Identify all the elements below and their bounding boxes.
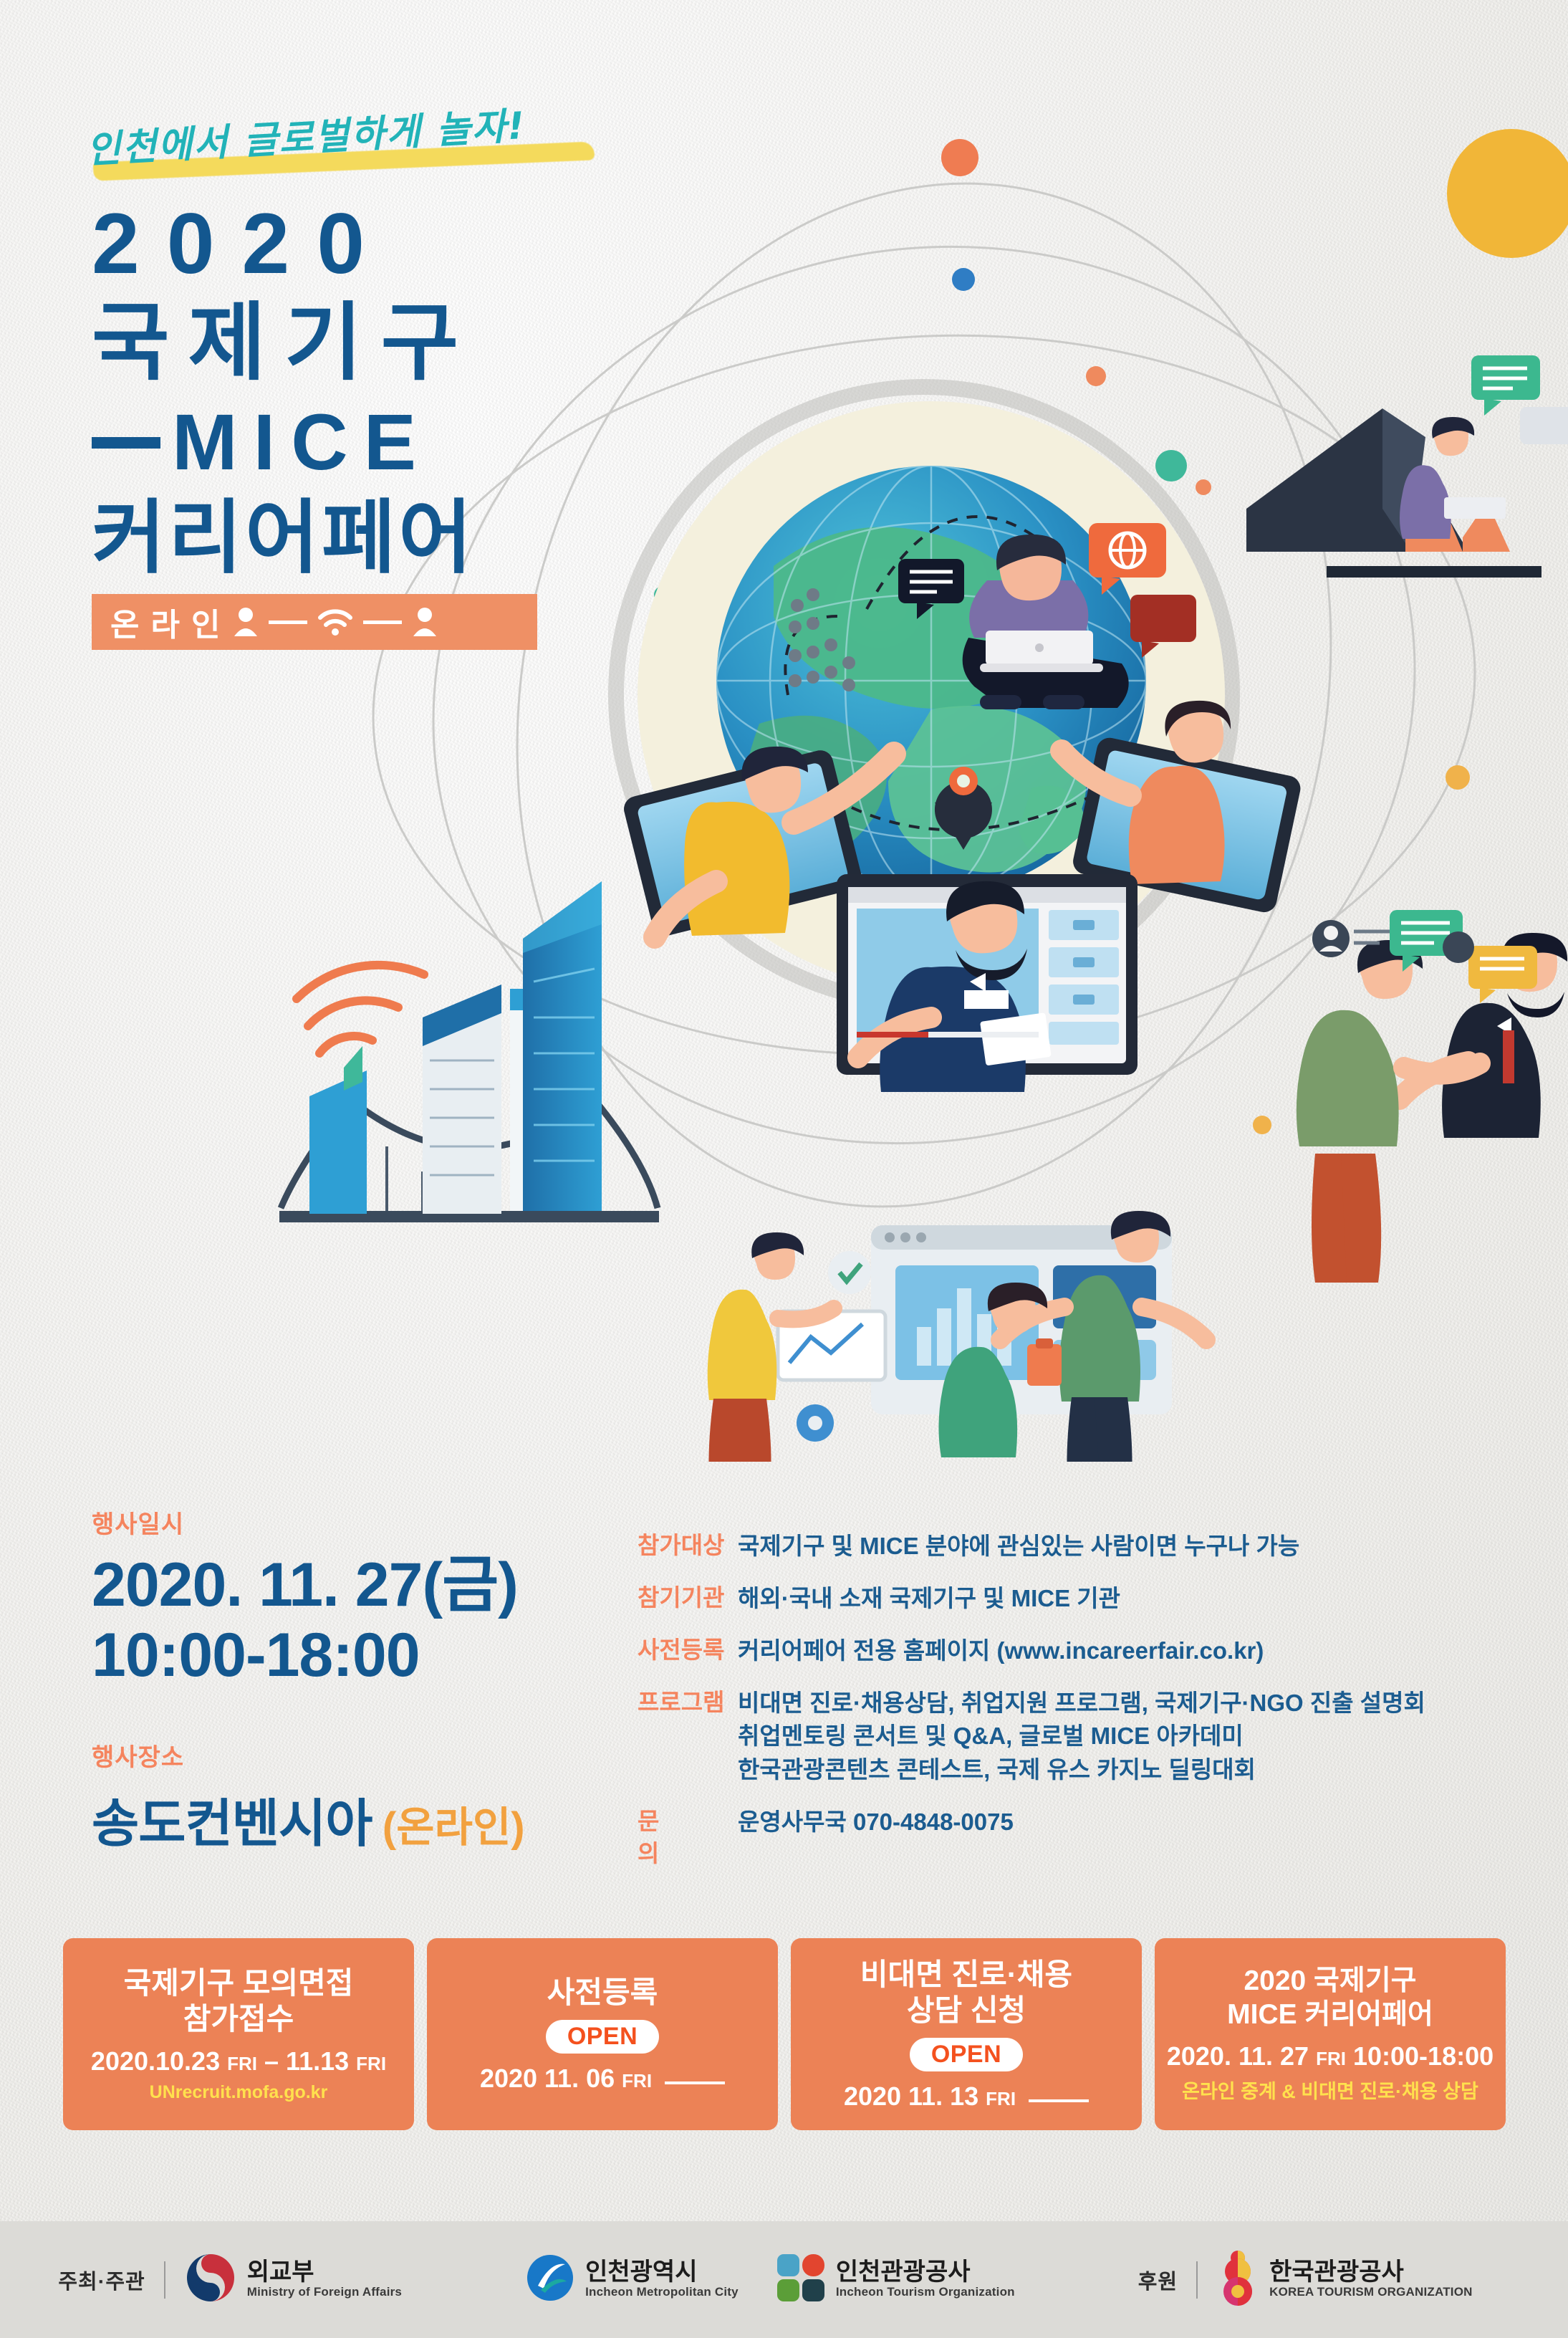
event-time-line2: 10:00-18:00 xyxy=(92,1620,650,1690)
detail-value: 해외·국내 소재 국제기구 및 MICE 기관 xyxy=(738,1582,1120,1616)
event-date-label: 행사일시 xyxy=(92,1505,650,1540)
mofa-name-en: Ministry of Foreign Affairs xyxy=(247,2285,402,2299)
korea-tourism-name-en: KOREA TOURISM ORGANIZATION xyxy=(1269,2285,1473,2299)
event-date-value: 2020. 11. 27(금) 10:00-18:00 xyxy=(92,1550,650,1690)
status-badge-open: OPEN xyxy=(910,2038,1023,2071)
person-icon-right xyxy=(410,606,439,638)
connector-line-right xyxy=(363,621,402,624)
cta-note: 온라인 중계 & 비대면 진로·채용 상담 xyxy=(1182,2076,1478,2104)
logo-korea-tourism: 한국관광공사 KOREA TOURISM ORGANIZATION xyxy=(1216,2250,1473,2309)
dashboard-scene: </> xyxy=(708,1211,1206,1462)
cta-date-day: FRI xyxy=(622,2070,652,2092)
cta-date: 2020. 11. 27 FRI 10:00-18:00 xyxy=(1167,2041,1494,2071)
event-details-list: 참가대상 국제기구 및 MICE 분야에 관심있는 사람이면 누구나 가능 참기… xyxy=(638,1530,1511,1888)
event-venue-value: 송도컨벤시아 (온라인) xyxy=(92,1781,650,1856)
logo-mofa: 외교부 Ministry of Foreign Affairs xyxy=(184,2251,402,2308)
logo-incheon-tourism: 인천관광공사 Incheon Tourism Organization xyxy=(776,2253,1015,2306)
clipboard-icon xyxy=(1027,1338,1062,1386)
program-line-3: 한국관광콘텐츠 콘테스트, 국제 유스 카지노 딜링대회 xyxy=(738,1753,1425,1787)
mofa-name-kr: 외교부 xyxy=(247,2258,314,2286)
cta-title-line1: 사전등록 xyxy=(547,1975,658,2011)
cta-box-row: 국제기구 모의면접 참가접수 2020.10.23 FRI – 11.13 FR… xyxy=(63,1938,1506,2130)
gear-icon xyxy=(797,1404,834,1442)
korea-tourism-name-kr: 한국관광공사 xyxy=(1269,2258,1404,2286)
cta-date-blank-rule xyxy=(665,2081,725,2084)
detail-value[interactable]: 커리어페어 전용 홈페이지 (www.incareerfair.co.kr) xyxy=(738,1634,1264,1668)
event-datetime-venue: 행사일시 2020. 11. 27(금) 10:00-18:00 행사장소 송도… xyxy=(92,1505,650,1856)
cta-date-value: 2020. 11. 27 xyxy=(1167,2041,1309,2071)
cta-date-time: 10:00-18:00 xyxy=(1353,2041,1494,2071)
title-year: 2020 xyxy=(92,201,808,287)
footer-sponsors: 주최·주관 외교부 Ministry of Foreign Affairs xyxy=(0,2221,1568,2338)
wifi-icon xyxy=(316,608,355,636)
host-caption: 주최·주관 xyxy=(58,2265,145,2295)
title-line-careerfair: 커리어페어 xyxy=(92,498,808,578)
cta-date: 2020 11. 06 FRI xyxy=(480,2064,725,2094)
cta-title-line2: MICE 커리어페어 xyxy=(1227,1998,1433,2031)
title-mice: MICE xyxy=(172,397,432,488)
mofa-taegeuk-icon xyxy=(184,2251,237,2308)
detail-value: 국제기구 및 MICE 분야에 관심있는 사람이면 누구나 가능 xyxy=(738,1530,1299,1563)
detail-key: 프로그램 xyxy=(638,1687,738,1719)
cta-date-day: FRI xyxy=(986,2088,1016,2109)
cta-box-mock-interview[interactable]: 국제기구 모의면접 참가접수 2020.10.23 FRI – 11.13 FR… xyxy=(63,1938,414,2130)
cta-date-blank-rule xyxy=(1029,2099,1089,2102)
sponsor-caption: 후원 xyxy=(1138,2265,1178,2295)
title-line-organization: 국제기구 xyxy=(92,301,808,385)
venue-mode: (온라인) xyxy=(383,1804,525,1851)
cta-box-preregistration[interactable]: 사전등록 OPEN 2020 11. 06 FRI xyxy=(427,1938,778,2130)
incheon-tourism-icon xyxy=(776,2253,826,2306)
korea-tourism-icon xyxy=(1216,2250,1259,2309)
detail-row-program: 프로그램 비대면 진로·채용상담, 취업지원 프로그램, 국제기구·NGO 진출… xyxy=(638,1687,1511,1788)
convention-center xyxy=(1246,355,1568,578)
incheon-tourism-label: 인천관광공사 Incheon Tourism Organization xyxy=(836,2260,1015,2300)
korea-tourism-label: 한국관광공사 KOREA TOURISM ORGANIZATION xyxy=(1269,2260,1473,2300)
online-badge-bar: 온라인 xyxy=(92,594,537,650)
detail-row-preregistration: 사전등록 커리어페어 전용 홈페이지 (www.incareerfair.co.… xyxy=(638,1634,1511,1668)
detail-row-organizations: 참기기관 해외·국내 소재 국제기구 및 MICE 기관 xyxy=(638,1582,1511,1616)
sponsor-group: 후원 xyxy=(1138,2261,1216,2299)
footer-divider xyxy=(164,2261,165,2299)
incheon-city-label: 인천광역시 Incheon Metropolitan City xyxy=(585,2260,739,2300)
cta-box-career-consult[interactable]: 비대면 진로·채용 상담 신청 OPEN 2020 11. 13 FRI xyxy=(791,1938,1142,2130)
program-line-2: 취업멘토링 콘서트 및 Q&A, 글로벌 MICE 아카데미 xyxy=(738,1720,1425,1753)
page-title: 2020 국제기구 MICE 커리어페어 온라인 xyxy=(92,201,808,650)
venue-name: 송도컨벤시아 xyxy=(92,1796,372,1853)
logo-incheon-city: 인천광역시 Incheon Metropolitan City xyxy=(525,2253,739,2306)
cta-date-end-day: FRI xyxy=(356,2053,386,2074)
incheon-city-name-en: Incheon Metropolitan City xyxy=(585,2285,739,2299)
event-venue-group: 행사장소 송도컨벤시아 (온라인) xyxy=(92,1738,650,1856)
cta-title-line1: 국제기구 모의면접 xyxy=(124,1965,354,2001)
cta-title-line2: 상담 신청 xyxy=(907,1993,1026,2028)
person-icon-left xyxy=(231,606,260,638)
check-badge-icon xyxy=(828,1251,871,1294)
detail-key: 참가대상 xyxy=(638,1530,738,1562)
online-badge-label: 온라인 xyxy=(110,599,231,645)
incheon-city-icon xyxy=(525,2253,575,2306)
cta-date: 2020 11. 13 FRI xyxy=(844,2081,1089,2112)
detail-value-multiline: 비대면 진로·채용상담, 취업지원 프로그램, 국제기구·NGO 진출 설명회 … xyxy=(738,1687,1425,1788)
incheon-city-name-kr: 인천광역시 xyxy=(585,2258,697,2286)
status-badge-open: OPEN xyxy=(546,2020,659,2054)
cta-date-start: 2020.10.23 xyxy=(91,2046,220,2076)
cta-date-range: 2020.10.23 FRI – 11.13 FRI xyxy=(91,2046,386,2076)
cta-title-line1: 2020 국제기구 xyxy=(1244,1965,1416,1998)
detail-value: 운영사무국 070-4848-0075 xyxy=(738,1806,1014,1839)
buildings xyxy=(309,881,602,1214)
chat-bubbles-roof xyxy=(1471,355,1568,444)
wifi-waves xyxy=(297,965,424,1053)
title-dash-rule xyxy=(92,437,160,449)
event-poster: </> xyxy=(0,0,1568,2338)
cta-date-day: FRI xyxy=(1316,2048,1346,2069)
title-mice-row: MICE xyxy=(92,397,808,488)
event-date-line1: 2020. 11. 27(금) xyxy=(92,1550,650,1620)
cta-date-start-day: FRI xyxy=(227,2053,257,2074)
incheon-tourism-name-en: Incheon Tourism Organization xyxy=(836,2285,1015,2299)
cta-box-main-event[interactable]: 2020 국제기구 MICE 커리어페어 2020. 11. 27 FRI 10… xyxy=(1155,1938,1506,2130)
cta-url[interactable]: UNrecruit.mofa.go.kr xyxy=(150,2082,328,2103)
detail-key: 사전등록 xyxy=(638,1634,738,1667)
program-line-1: 비대면 진로·채용상담, 취업지원 프로그램, 국제기구·NGO 진출 설명회 xyxy=(738,1690,1425,1716)
handshake-group xyxy=(1297,910,1567,1283)
incheon-landmarks xyxy=(279,881,659,1222)
detail-row-audience: 참가대상 국제기구 및 MICE 분야에 관심있는 사람이면 누구나 가능 xyxy=(638,1530,1511,1563)
monitor-presenter xyxy=(837,874,1137,1092)
cta-date-value: 2020 11. 06 xyxy=(480,2064,615,2093)
mofa-label: 외교부 Ministry of Foreign Affairs xyxy=(247,2260,402,2300)
host-group: 주최·주관 xyxy=(58,2261,183,2299)
tagline: 인천에서 글로벌하게 놀자! xyxy=(86,107,659,186)
incheon-tourism-name-kr: 인천관광공사 xyxy=(836,2258,971,2286)
connector-line-left xyxy=(269,621,307,624)
cta-title-line2: 참가접수 xyxy=(183,2001,294,2037)
footer-divider xyxy=(1196,2261,1198,2299)
cta-date-end: 11.13 xyxy=(286,2046,349,2076)
detail-row-contact: 문 의 운영사무국 070-4848-0075 xyxy=(638,1806,1511,1869)
cta-date-value: 2020 11. 13 xyxy=(844,2081,978,2111)
detail-key: 문 의 xyxy=(638,1806,738,1869)
detail-key: 참기기관 xyxy=(638,1582,738,1614)
event-venue-label: 행사장소 xyxy=(92,1738,650,1773)
cta-title-line1: 비대면 진로·채용 xyxy=(860,1957,1072,1993)
